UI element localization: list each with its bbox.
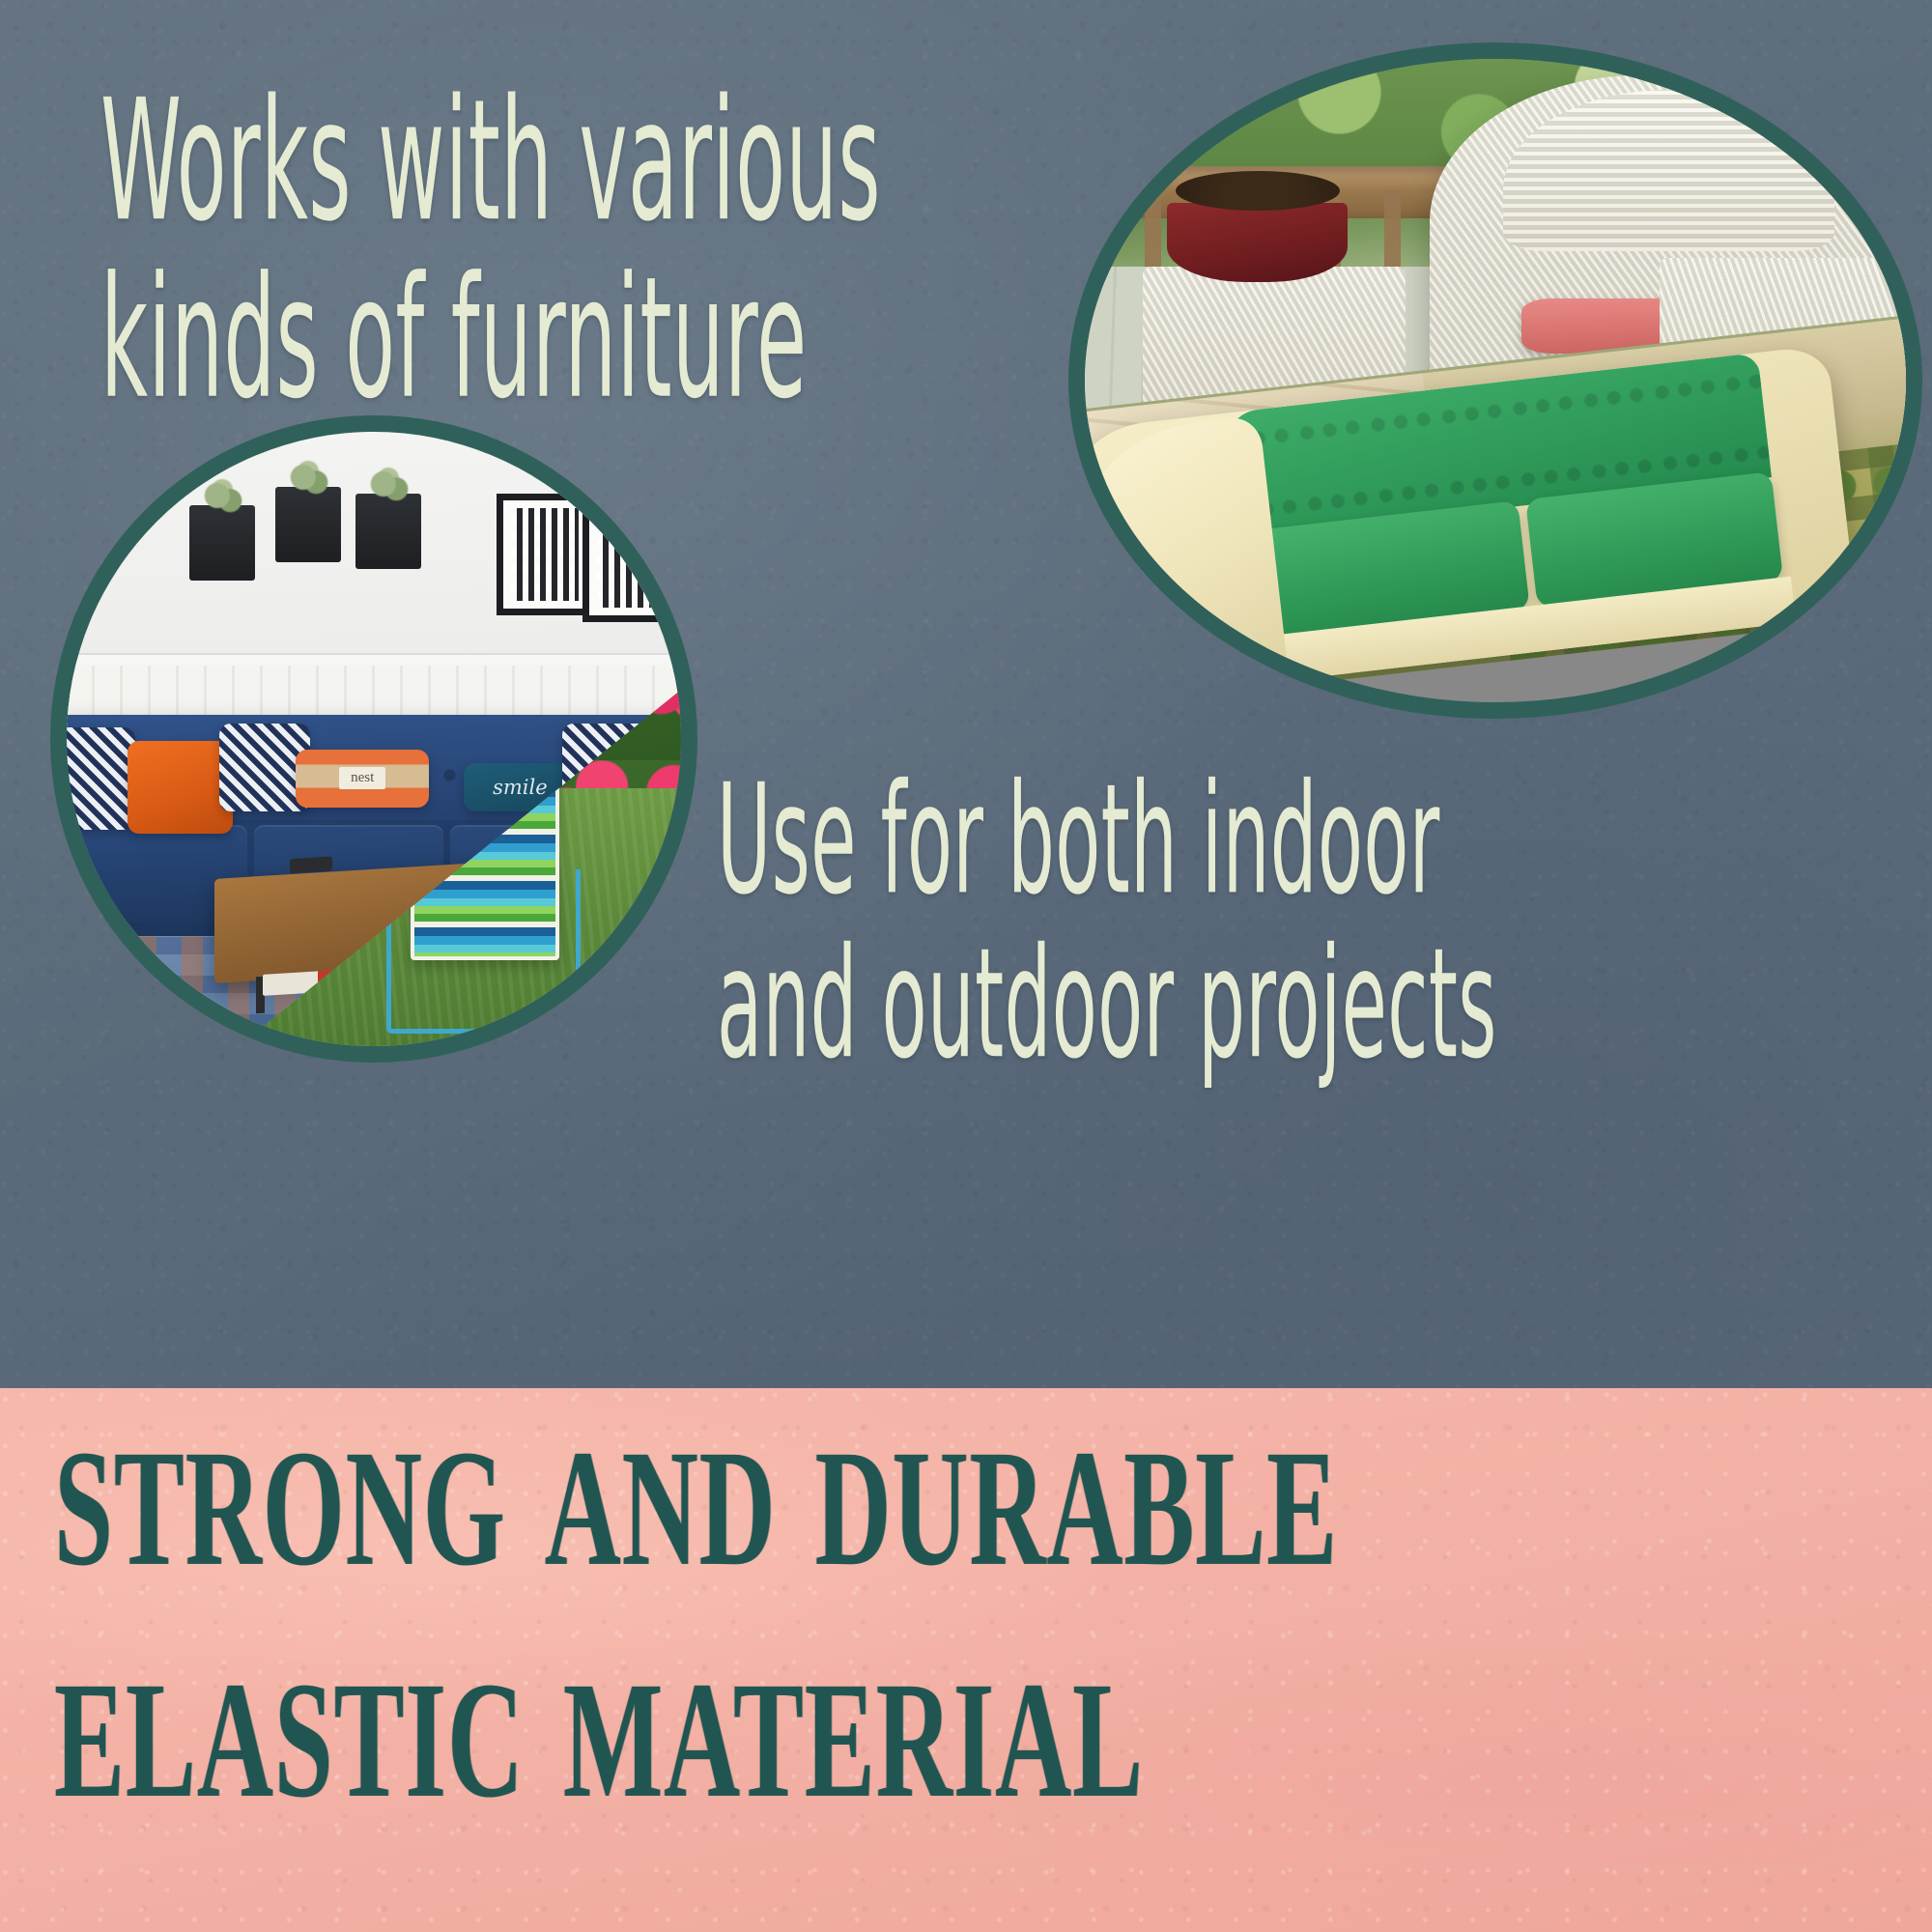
pillow-nest-label: nest (339, 767, 385, 789)
photo-outdoor-deck-and-sofa (1085, 59, 1906, 702)
headline-use-line1: Use for both indoor (717, 751, 1440, 928)
photo-circle-indoor-and-garden: nest smile (50, 415, 697, 1063)
framed-artwork-2 (582, 512, 668, 622)
photo-circle-outdoor-furniture (1068, 43, 1922, 719)
headline-works-with-furniture: Works with various kinds of furniture (100, 75, 881, 423)
headline-use-for-projects: Use for both indoor and outdoor projects (717, 763, 1497, 1082)
terracotta-flower-pot (1167, 203, 1348, 283)
wall-shelf-plant-2 (275, 487, 341, 562)
remote-control (290, 856, 332, 873)
throw-pillow-orange-left (128, 741, 233, 834)
wicker-chair-back (1503, 90, 1834, 251)
photo-circle-indoor-inner: nest smile (67, 432, 681, 1046)
photo-circle-outdoor-inner (1085, 59, 1906, 702)
photo-living-room-and-garden: nest smile (67, 432, 681, 1046)
bottom-banner: Strong and Durable Elastic Material (0, 1388, 1932, 1932)
sofa-cream-arm (1085, 415, 1290, 702)
pillow-smile-label: smile (493, 776, 548, 799)
banner-headline-line1: Strong and Durable (54, 1388, 1338, 1595)
framed-artwork-1 (497, 494, 593, 615)
wall-shelf-plant-3 (355, 494, 421, 569)
artwork-triangle-pattern-1 (511, 508, 579, 601)
banner-headline-line2: Elastic Material (54, 1607, 1144, 1827)
headline-use-line2: and outdoor projects (717, 927, 1497, 1082)
headline-works-line1: Works with various (100, 63, 881, 258)
throw-pillow-pattern-left (67, 727, 135, 829)
throw-pillow-nest: nest (296, 750, 429, 808)
promo-poster: Works with various kinds of furniture (0, 0, 1932, 1932)
headline-works-line2: kinds of furniture (100, 253, 881, 424)
potted-plant-soil (1176, 171, 1340, 211)
artwork-triangle-pattern-2 (597, 526, 653, 608)
wall-shelf-plant-1 (189, 505, 255, 581)
